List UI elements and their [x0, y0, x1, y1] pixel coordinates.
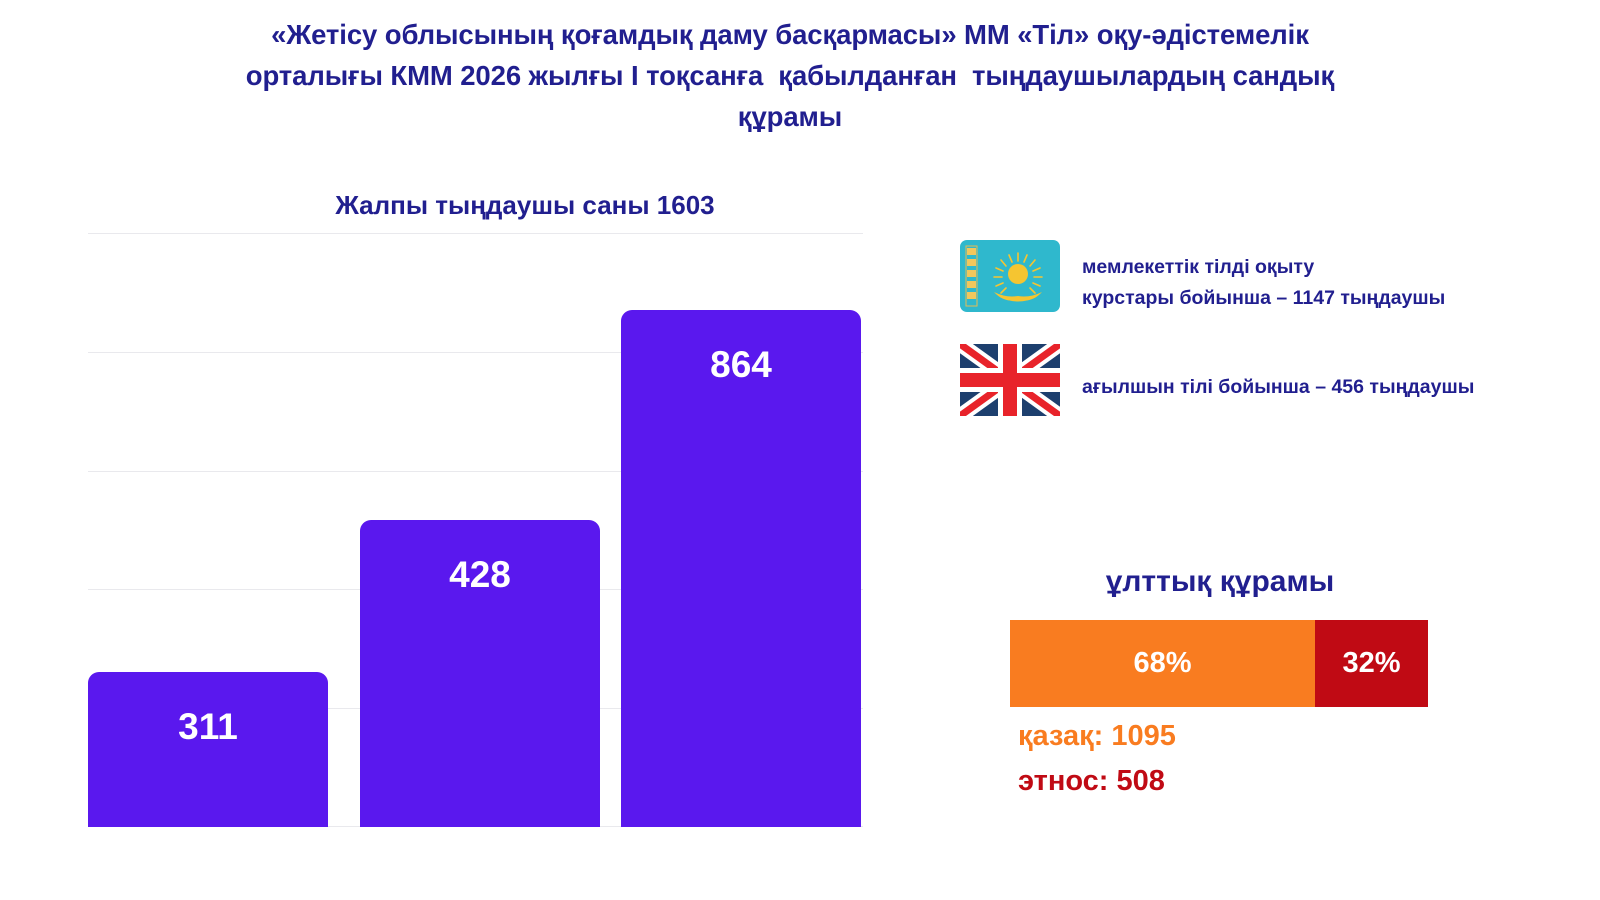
nationality-legend: қазақ: 1095 этнос: 508 [1010, 714, 1430, 804]
bar-chart: 311 428 864 [88, 233, 863, 827]
nationality-segment-kazakh-label: 68% [1134, 647, 1192, 680]
united-kingdom-flag-icon [960, 344, 1060, 416]
legend-item-kazakh-label: мемлекеттік тілді оқыту курстары бойынша… [1082, 240, 1445, 314]
legend-item-kazakh: мемлекеттік тілді оқыту курстары бойынша… [960, 240, 1560, 314]
nationality-segment-kazakh[interactable]: 68% [1010, 620, 1315, 707]
page-title-line-3: құрамы [120, 96, 1460, 137]
nationality-stacked-bar: 68% 32% [1010, 620, 1428, 707]
chart-legend: мемлекеттік тілді оқыту курстары бойынша… [960, 240, 1560, 446]
page-title-line-1: «Жетісу облысының қоғамдық даму басқарма… [120, 14, 1460, 55]
bar-2-value-label: 428 [360, 556, 600, 593]
nationality-title: ұлттық құрамы [1010, 565, 1430, 599]
legend-item-english: ағылшын тілі бойынша – 456 тыңдаушы [960, 344, 1560, 416]
kazakhstan-flag-icon [960, 240, 1060, 312]
legend-item-english-label: ағылшын тілі бойынша – 456 тыңдаушы [1082, 344, 1474, 403]
page-title: «Жетісу облысының қоғамдық даму басқарма… [120, 14, 1460, 137]
bar-2[interactable]: 428 [360, 520, 600, 827]
nationality-ethnos-count: этнос: 508 [1018, 759, 1430, 804]
nationality-segment-ethnos[interactable]: 32% [1315, 620, 1428, 707]
page-title-line-2: орталығы КММ 2026 жылғы І тоқсанға қабыл… [120, 55, 1460, 96]
chart-title: Жалпы тыңдаушы саны 1603 [90, 190, 960, 221]
nationality-composition: ұлттық құрамы 68% 32% қазақ: 1095 этнос:… [1010, 565, 1430, 804]
gridline [88, 233, 863, 234]
bar-1[interactable]: 311 [88, 672, 328, 827]
bar-3[interactable]: 864 [621, 310, 861, 827]
nationality-kazakh-count: қазақ: 1095 [1018, 714, 1430, 759]
bar-1-value-label: 311 [88, 708, 328, 745]
nationality-segment-ethnos-label: 32% [1343, 647, 1401, 680]
bar-3-value-label: 864 [621, 346, 861, 383]
